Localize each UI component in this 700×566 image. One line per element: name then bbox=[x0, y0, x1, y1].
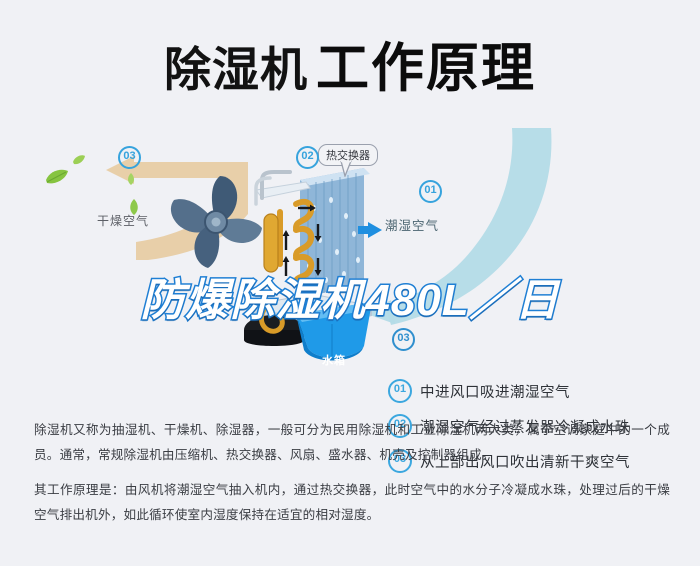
step-text: 中进风口吸进潮湿空气 bbox=[420, 381, 570, 402]
dehumidifier-unit-illustration bbox=[236, 164, 386, 374]
step-number: 01 bbox=[388, 379, 412, 403]
page-title-part1: 除湿机 bbox=[164, 43, 308, 96]
callout-tail-icon bbox=[340, 161, 352, 177]
leaf-icon bbox=[126, 172, 136, 186]
leaf-icon bbox=[44, 168, 70, 186]
page-title-part2: 工作原理 bbox=[316, 39, 536, 98]
diagram-badge-dry-air: 03 bbox=[118, 146, 141, 169]
paragraph-definition: 除湿机又称为抽湿机、干燥机、除湿器，一般可分为民用除湿机和工业除湿机两大类，属于… bbox=[34, 418, 670, 467]
working-principle-diagram: 热交换器 03 02 01 03 干燥空气 潮湿空气 水箱 01 中进风口吸进潮… bbox=[0, 128, 700, 408]
label-water-tank: 水箱 bbox=[322, 352, 346, 368]
infographic-page: 除湿机工作原理 bbox=[0, 0, 700, 566]
diagram-badge-outlet: 03 bbox=[392, 328, 415, 351]
label-dry-air: 干燥空气 bbox=[97, 212, 149, 229]
description-block: 除湿机又称为抽湿机、干燥机、除湿器，一般可分为民用除湿机和工业除湿机两大类，属于… bbox=[34, 418, 670, 538]
diagram-badge-heat-exchanger: 02 bbox=[296, 146, 319, 169]
page-title: 除湿机工作原理 bbox=[0, 26, 700, 102]
diagram-badge-humid-air: 01 bbox=[419, 180, 442, 203]
paragraph-principle: 其工作原理是：由风机将潮湿空气抽入机内，通过热交换器，此时空气中的水分子冷凝成水… bbox=[34, 478, 670, 527]
label-humid-air: 潮湿空气 bbox=[385, 215, 439, 234]
list-item: 01 中进风口吸进潮湿空气 bbox=[388, 380, 688, 402]
leaf-icon bbox=[72, 154, 86, 166]
